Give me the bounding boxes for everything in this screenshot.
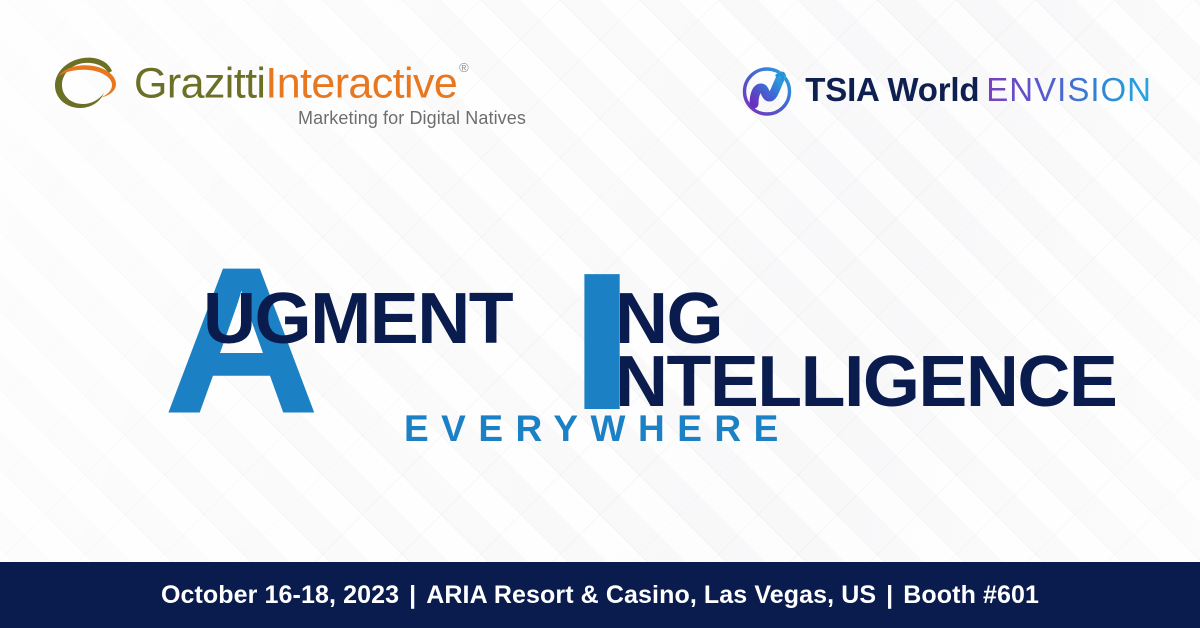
event-banner: GrazittiInteractive® Marketing for Digit…	[0, 0, 1200, 628]
separator-1: |	[399, 581, 426, 610]
tsia-envision-label: ENVISION	[986, 71, 1152, 108]
grazitti-logo-mark	[50, 55, 124, 111]
headline-word-ugment: UGMENT	[203, 283, 512, 355]
event-booth: Booth #601	[903, 581, 1039, 609]
tsia-chart-circle-icon	[741, 64, 794, 117]
headline-subline-everywhere: EVERYWHERE	[404, 410, 791, 447]
event-details-bar: October 16-18, 2023|ARIA Resort & Casino…	[0, 562, 1200, 628]
grazitti-name-secondary: Interactive	[265, 59, 457, 107]
event-venue: ARIA Resort & Casino, Las Vegas, US	[426, 581, 876, 609]
grazitti-wordmark: GrazittiInteractive®	[134, 52, 467, 109]
tsia-world-envision-logo[interactable]: TSIA WorldENVISION	[741, 62, 1152, 118]
registered-trademark-icon: ®	[459, 60, 469, 75]
grazitti-tagline: Marketing for Digital Natives	[298, 108, 526, 129]
grazitti-logo[interactable]: GrazittiInteractive® Marketing for Digit…	[50, 52, 520, 134]
event-details-text: October 16-18, 2023|ARIA Resort & Casino…	[161, 581, 1039, 610]
tsia-world-label: TSIA World	[805, 71, 979, 108]
separator-2: |	[876, 581, 903, 610]
headline-block: A UGMENT I NG NTELLIGENCE	[163, 238, 1063, 398]
grazitti-name-primary: Grazitti	[134, 59, 265, 107]
event-dates: October 16-18, 2023	[161, 581, 399, 609]
tsia-wordmark: TSIA WorldENVISION	[805, 69, 1152, 111]
